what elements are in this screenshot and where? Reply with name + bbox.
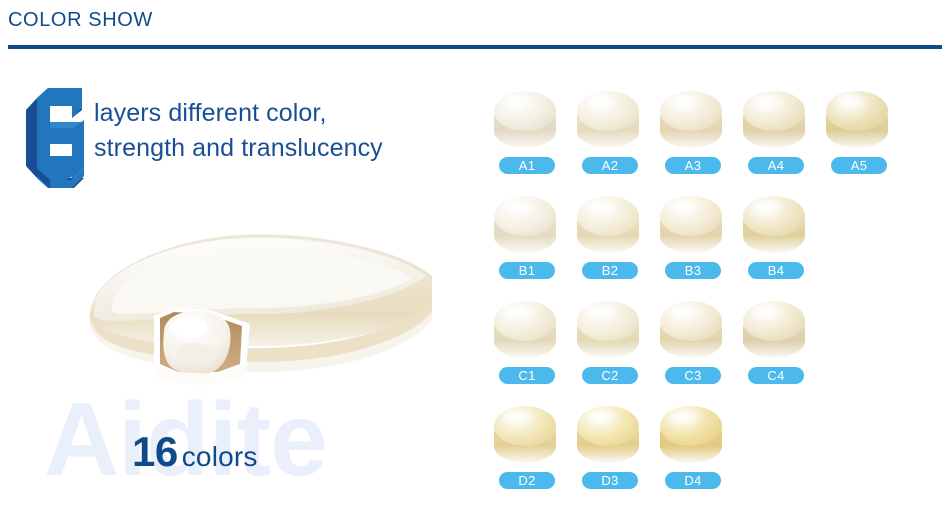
swatch-a3[interactable]: A3	[656, 88, 728, 193]
disc-specular-highlight	[503, 410, 533, 424]
six-layers-numeral-icon	[26, 88, 88, 188]
page-title: COLOR SHOW	[8, 9, 153, 32]
zirconia-disc-c1	[494, 301, 556, 359]
zirconia-disc-b3	[660, 196, 722, 254]
zirconia-disc-d3	[577, 406, 639, 464]
color-swatch-grid: A1A2A3A4A5B1B2B3B4C1C2C3C4D2D3D4	[490, 88, 950, 517]
swatch-b2[interactable]: B2	[573, 193, 645, 298]
shade-label-b1[interactable]: B1	[499, 262, 555, 279]
swatch-a4[interactable]: A4	[739, 88, 811, 193]
swatch-a2[interactable]: A2	[573, 88, 645, 193]
shade-label-c3[interactable]: C3	[665, 367, 721, 384]
shade-label-d3[interactable]: D3	[582, 472, 638, 489]
zirconia-disc-b1	[494, 196, 556, 254]
shade-label-d2[interactable]: D2	[499, 472, 555, 489]
swatch-c4[interactable]: C4	[739, 298, 811, 403]
feature-tagline: layers different color, strength and tra…	[94, 96, 464, 166]
zirconia-disc-c2	[577, 301, 639, 359]
disc-specular-highlight	[669, 200, 699, 214]
swatch-b3[interactable]: B3	[656, 193, 728, 298]
swatch-c2[interactable]: C2	[573, 298, 645, 403]
shade-label-d4[interactable]: D4	[665, 472, 721, 489]
zirconia-disc-a5	[826, 91, 888, 149]
shade-label-c4[interactable]: C4	[748, 367, 804, 384]
disc-specular-highlight	[669, 95, 699, 109]
colors-count-number: 16	[132, 428, 178, 475]
swatch-row-a: A1A2A3A4A5	[490, 88, 950, 193]
zirconia-disc-a2	[577, 91, 639, 149]
shade-label-a4[interactable]: A4	[748, 157, 804, 174]
shade-label-c2[interactable]: C2	[582, 367, 638, 384]
disc-specular-highlight	[752, 305, 782, 319]
colors-count-word: colors	[182, 441, 258, 472]
zirconia-disc-c4	[743, 301, 805, 359]
zirconia-disc-a1	[494, 91, 556, 149]
swatch-b4[interactable]: B4	[739, 193, 811, 298]
colors-count-callout: 16colors	[132, 428, 258, 476]
left-panel: layers different color, strength and tra…	[0, 52, 480, 517]
shade-label-a3[interactable]: A3	[665, 157, 721, 174]
zirconia-disc-d4	[660, 406, 722, 464]
swatch-d4[interactable]: D4	[656, 403, 728, 508]
zirconia-disc-d2	[494, 406, 556, 464]
tagline-line-2: strength and translucency	[94, 131, 464, 166]
disc-specular-highlight	[586, 410, 616, 424]
zirconia-disc-a4	[743, 91, 805, 149]
shade-label-b2[interactable]: B2	[582, 262, 638, 279]
zirconia-disc-a3	[660, 91, 722, 149]
shade-label-b4[interactable]: B4	[748, 262, 804, 279]
swatch-row-d: D2D3D4	[490, 403, 950, 508]
swatch-a5[interactable]: A5	[822, 88, 894, 193]
swatch-c1[interactable]: C1	[490, 298, 562, 403]
header-divider-rule	[8, 45, 942, 49]
shade-label-a1[interactable]: A1	[499, 157, 555, 174]
shade-label-b3[interactable]: B3	[665, 262, 721, 279]
tagline-line-1: layers different color,	[94, 96, 464, 131]
disc-specular-highlight	[835, 95, 865, 109]
disc-specular-highlight	[503, 305, 533, 319]
zirconia-disc-b4	[743, 196, 805, 254]
shade-label-c1[interactable]: C1	[499, 367, 555, 384]
disc-specular-highlight	[503, 95, 533, 109]
disc-specular-highlight	[586, 305, 616, 319]
disc-specular-highlight	[752, 95, 782, 109]
swatch-row-b: B1B2B3B4	[490, 193, 950, 298]
shade-label-a2[interactable]: A2	[582, 157, 638, 174]
swatch-a1[interactable]: A1	[490, 88, 562, 193]
disc-specular-highlight	[752, 200, 782, 214]
swatch-d3[interactable]: D3	[573, 403, 645, 508]
zirconia-disc-c3	[660, 301, 722, 359]
zirconia-disc-b2	[577, 196, 639, 254]
swatch-c3[interactable]: C3	[656, 298, 728, 403]
swatch-row-c: C1C2C3C4	[490, 298, 950, 403]
disc-specular-highlight	[669, 410, 699, 424]
disc-specular-highlight	[669, 305, 699, 319]
swatch-d2[interactable]: D2	[490, 403, 562, 508]
shade-label-a5[interactable]: A5	[831, 157, 887, 174]
swatch-b1[interactable]: B1	[490, 193, 562, 298]
disc-specular-highlight	[503, 200, 533, 214]
disc-specular-highlight	[586, 200, 616, 214]
page-header: COLOR SHOW	[0, 0, 950, 52]
disc-specular-highlight	[586, 95, 616, 109]
